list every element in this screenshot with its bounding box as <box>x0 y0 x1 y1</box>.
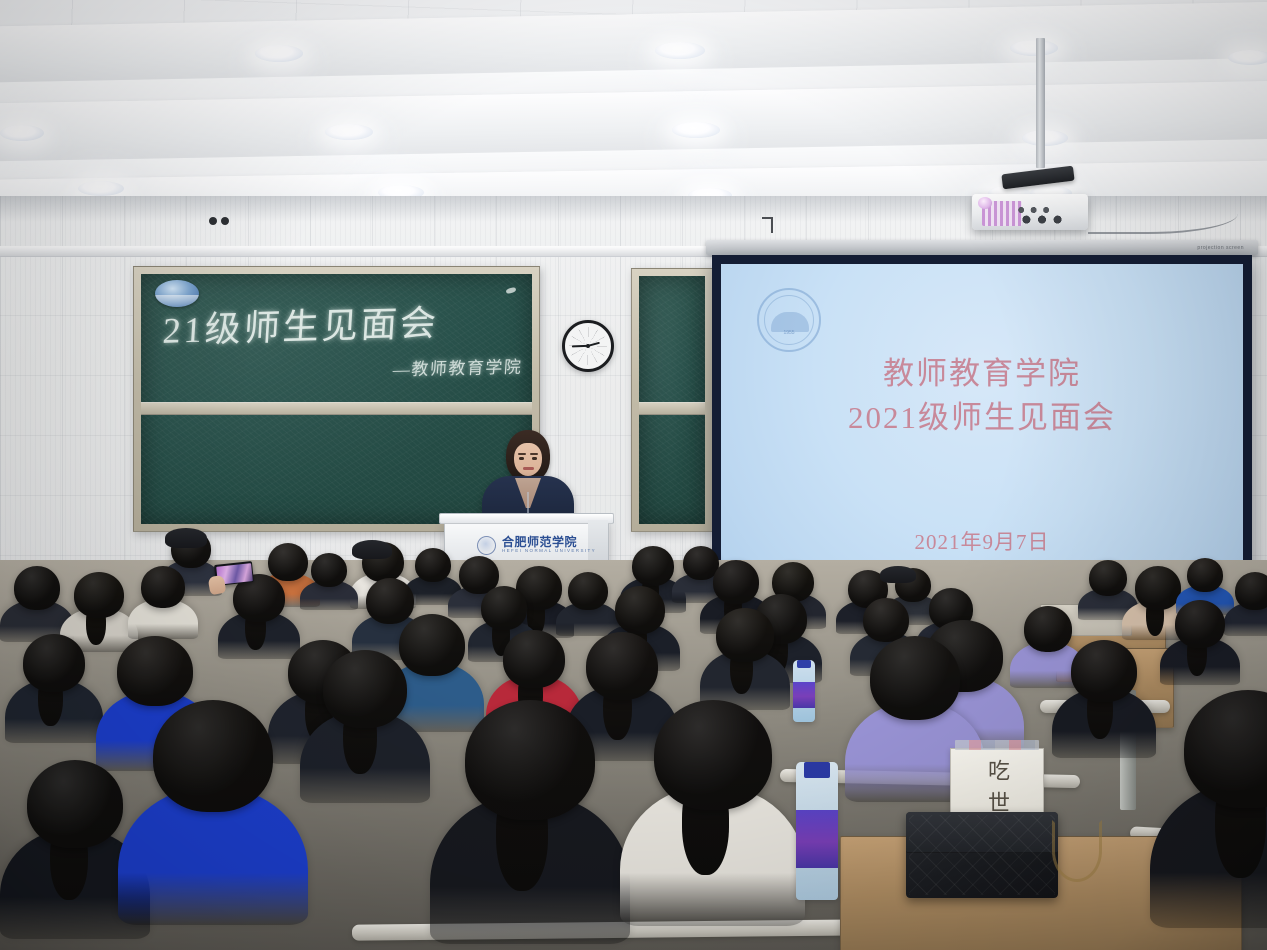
wall-bracket-hook <box>762 217 773 233</box>
audience-head <box>615 586 665 634</box>
downlight-7 <box>672 122 720 138</box>
audience-head <box>311 553 347 587</box>
audience-member <box>300 553 358 617</box>
seal-year: 1955 <box>759 330 819 336</box>
speaker-brow-right <box>530 453 538 455</box>
downlight-8 <box>1022 130 1068 146</box>
audience-head <box>415 548 451 582</box>
downlight-2 <box>655 42 705 59</box>
speaker-eye-right <box>532 457 537 460</box>
handbag-quilting <box>909 815 1055 895</box>
audience-head <box>141 566 185 608</box>
projector-icon <box>972 194 1088 230</box>
audience-head <box>14 566 60 610</box>
audience-head <box>323 650 407 728</box>
blackboard-side-texture <box>639 276 705 524</box>
audience-head <box>654 700 772 810</box>
audience-member <box>430 700 630 950</box>
blackboard-main-text: 21级师生见面会 <box>162 294 441 354</box>
seal-building-glyph <box>771 312 809 332</box>
audience-head <box>481 586 527 630</box>
audience-member <box>620 700 805 950</box>
handbag-strap <box>1052 820 1102 882</box>
blackboard-side-divider <box>639 402 705 415</box>
audience-head <box>117 636 193 706</box>
baseball-cap-2 <box>352 540 392 559</box>
screen-roller-housing: projection screen <box>706 240 1258 255</box>
blackboard-surface: 21级师生见面会 —教师教育学院 <box>141 274 532 524</box>
speaker-mouth <box>523 467 534 470</box>
downlight-1 <box>255 45 303 62</box>
water-bottle-foreground <box>796 762 838 900</box>
slide-event-line: 2021级师生见面会 <box>721 396 1243 440</box>
audience-head <box>23 634 85 692</box>
speaker-eye-left <box>519 457 524 460</box>
baseball-cap-3 <box>880 566 916 583</box>
downlight-5 <box>0 125 44 141</box>
audience-head <box>1175 600 1225 648</box>
slide-title-block: 教师教育学院 2021级师生见面会 <box>721 352 1243 440</box>
wall-speaker-left <box>209 217 217 225</box>
downlight-3 <box>1010 40 1058 56</box>
audience-member <box>118 700 308 950</box>
podium-seal-icon <box>477 536 496 555</box>
audience-member <box>1052 640 1156 772</box>
projector-mount-pole <box>1036 38 1045 168</box>
downlight-6 <box>325 124 373 140</box>
audience-head <box>74 572 124 618</box>
clock-center-pin <box>586 344 590 348</box>
baseball-cap-1 <box>165 528 207 548</box>
university-seal-icon: 1955 <box>757 288 821 352</box>
audience-head <box>870 636 960 720</box>
projector-lens <box>978 197 992 209</box>
speaker-face <box>514 443 542 476</box>
audience-head <box>1187 558 1223 592</box>
audience-head <box>503 630 565 688</box>
wall-clock <box>562 320 614 372</box>
audience-head <box>153 700 273 812</box>
audience-head <box>716 608 774 662</box>
downlight-4 <box>1228 50 1267 65</box>
audience-head <box>27 760 123 848</box>
audience-member <box>1150 690 1267 950</box>
handbag <box>906 812 1058 898</box>
slide-date: 2021年9月7日 <box>721 526 1243 556</box>
sign-tape <box>955 740 1039 750</box>
audience-member <box>5 634 103 756</box>
bottle-label-back <box>793 682 815 708</box>
audience-member <box>1160 600 1240 696</box>
water-bottle-back <box>793 660 815 722</box>
bottle-cap-back <box>797 660 811 668</box>
downlight-9 <box>78 181 124 196</box>
audience-head <box>465 700 595 820</box>
projector-control-panel[interactable] <box>1016 204 1068 224</box>
blackboard-side-surface <box>639 276 705 524</box>
audience-head <box>1184 690 1267 808</box>
podium-plaque-en: HEFEI NORMAL UNIVERSITY <box>502 549 596 554</box>
bottle-label-foreground <box>796 810 838 868</box>
screen-brand-label: projection screen <box>1197 245 1244 251</box>
speaker-head <box>506 430 550 482</box>
blackboard-side <box>631 268 713 532</box>
lecture-hall-photo: 21级师生见面会 —教师教育学院 projection screen <box>0 0 1267 950</box>
wall-speaker-right <box>221 217 229 225</box>
blackboard-sub-text: —教师教育学院 <box>392 353 523 381</box>
blackboard-divider <box>141 402 532 415</box>
audience-head <box>1071 640 1137 702</box>
audience-member <box>300 650 430 820</box>
audience-head <box>632 546 674 586</box>
bottle-cap-foreground <box>804 762 830 778</box>
audience-head <box>586 632 658 700</box>
speaker-brow-left <box>518 453 526 455</box>
podium-plaque: 合肥师范学院 HEFEI NORMAL UNIVERSITY <box>477 532 599 558</box>
slide-org-line: 教师教育学院 <box>721 352 1243 396</box>
